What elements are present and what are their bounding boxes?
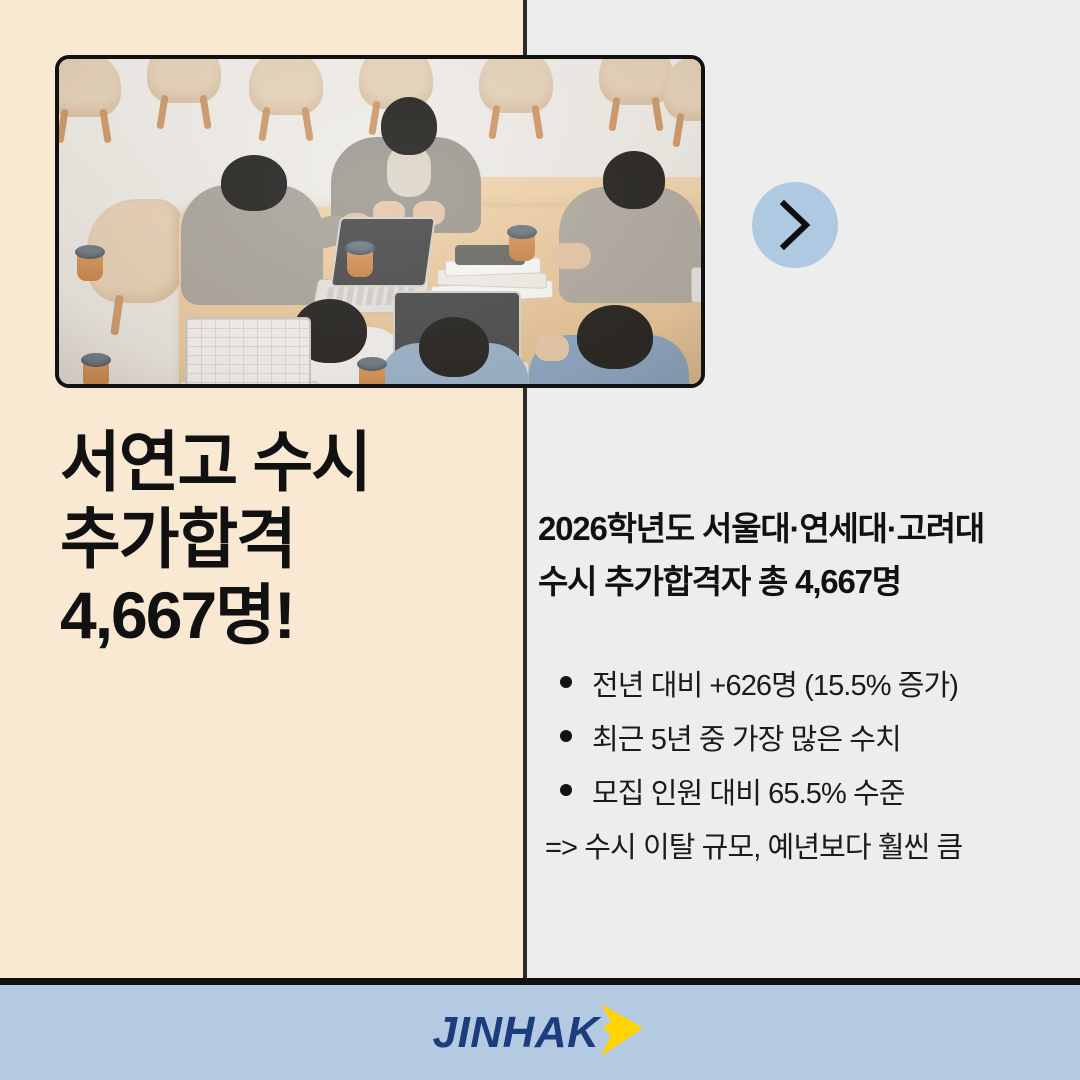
coffee-cup-icon	[509, 231, 535, 261]
chair-icon	[479, 59, 553, 113]
person-hand	[551, 243, 591, 269]
chair-icon	[249, 59, 323, 115]
person-head	[419, 317, 489, 377]
list-item-label: 최근 5년 중 가장 많은 수치	[592, 716, 901, 758]
card-root: 서연고 수시 추가합격 4,667명! 2026학년도 서울대·연세대·고려대 …	[0, 0, 1080, 1080]
bullet-dot-icon	[560, 676, 572, 688]
coffee-cup-icon	[83, 359, 109, 384]
laptop-screen	[330, 217, 436, 287]
meeting-photo	[55, 55, 705, 388]
list-item: 모집 인원 대비 65.5% 수준	[560, 770, 1060, 824]
chair-icon	[599, 59, 673, 105]
list-item: 최근 5년 중 가장 많은 수치	[560, 716, 1060, 770]
detail-bullet-list: 전년 대비 +626명 (15.5% 증가) 최근 5년 중 가장 많은 수치 …	[560, 662, 1060, 824]
next-arrow-button[interactable]	[752, 182, 838, 268]
laptop-screen	[185, 317, 311, 384]
chevron-arrow-icon	[597, 1002, 647, 1063]
person-head	[221, 155, 287, 211]
laptop-base	[691, 267, 701, 303]
chair-icon	[147, 59, 221, 103]
person-figure	[529, 305, 689, 384]
right-heading-line-2: 수시 추가합격자 총 4,667명	[538, 555, 1058, 608]
photo-illustration	[59, 59, 701, 384]
chevron-right-icon	[776, 199, 814, 251]
footer-bar: JINHAK	[0, 985, 1080, 1080]
person-head	[381, 97, 437, 155]
bullet-dot-icon	[560, 784, 572, 796]
coffee-cup-icon	[359, 363, 385, 384]
headline-line-1: 서연고 수시	[60, 424, 500, 501]
right-heading-line-1: 2026학년도 서울대·연세대·고려대	[538, 502, 1058, 555]
logo-wordmark: JINHAK	[433, 1011, 600, 1055]
coffee-cup-icon	[347, 247, 373, 277]
horizontal-divider	[0, 978, 1080, 985]
coffee-cup-icon	[77, 251, 103, 281]
person-hand	[535, 335, 569, 361]
right-heading: 2026학년도 서울대·연세대·고려대 수시 추가합격자 총 4,667명	[538, 502, 1058, 609]
person-head	[577, 305, 653, 369]
person-figure	[331, 97, 481, 227]
person-head	[603, 151, 665, 209]
list-item: 전년 대비 +626명 (15.5% 증가)	[560, 662, 1060, 716]
list-item-label: 모집 인원 대비 65.5% 수준	[592, 770, 905, 812]
headline-line-2: 추가합격	[60, 501, 500, 578]
person-figure	[177, 151, 327, 301]
bullet-dot-icon	[560, 730, 572, 742]
chair-icon	[59, 59, 121, 117]
jinhak-logo: JINHAK	[433, 1002, 648, 1063]
person-figure	[551, 151, 701, 301]
headline-line-3: 4,667명!	[60, 577, 500, 654]
list-item-label: 전년 대비 +626명 (15.5% 증가)	[592, 662, 958, 704]
page-title: 서연고 수시 추가합격 4,667명!	[60, 424, 500, 654]
person-figure	[379, 317, 529, 384]
conclusion-text: => 수시 이탈 규모, 예년보다 훨씬 큼	[545, 824, 962, 866]
